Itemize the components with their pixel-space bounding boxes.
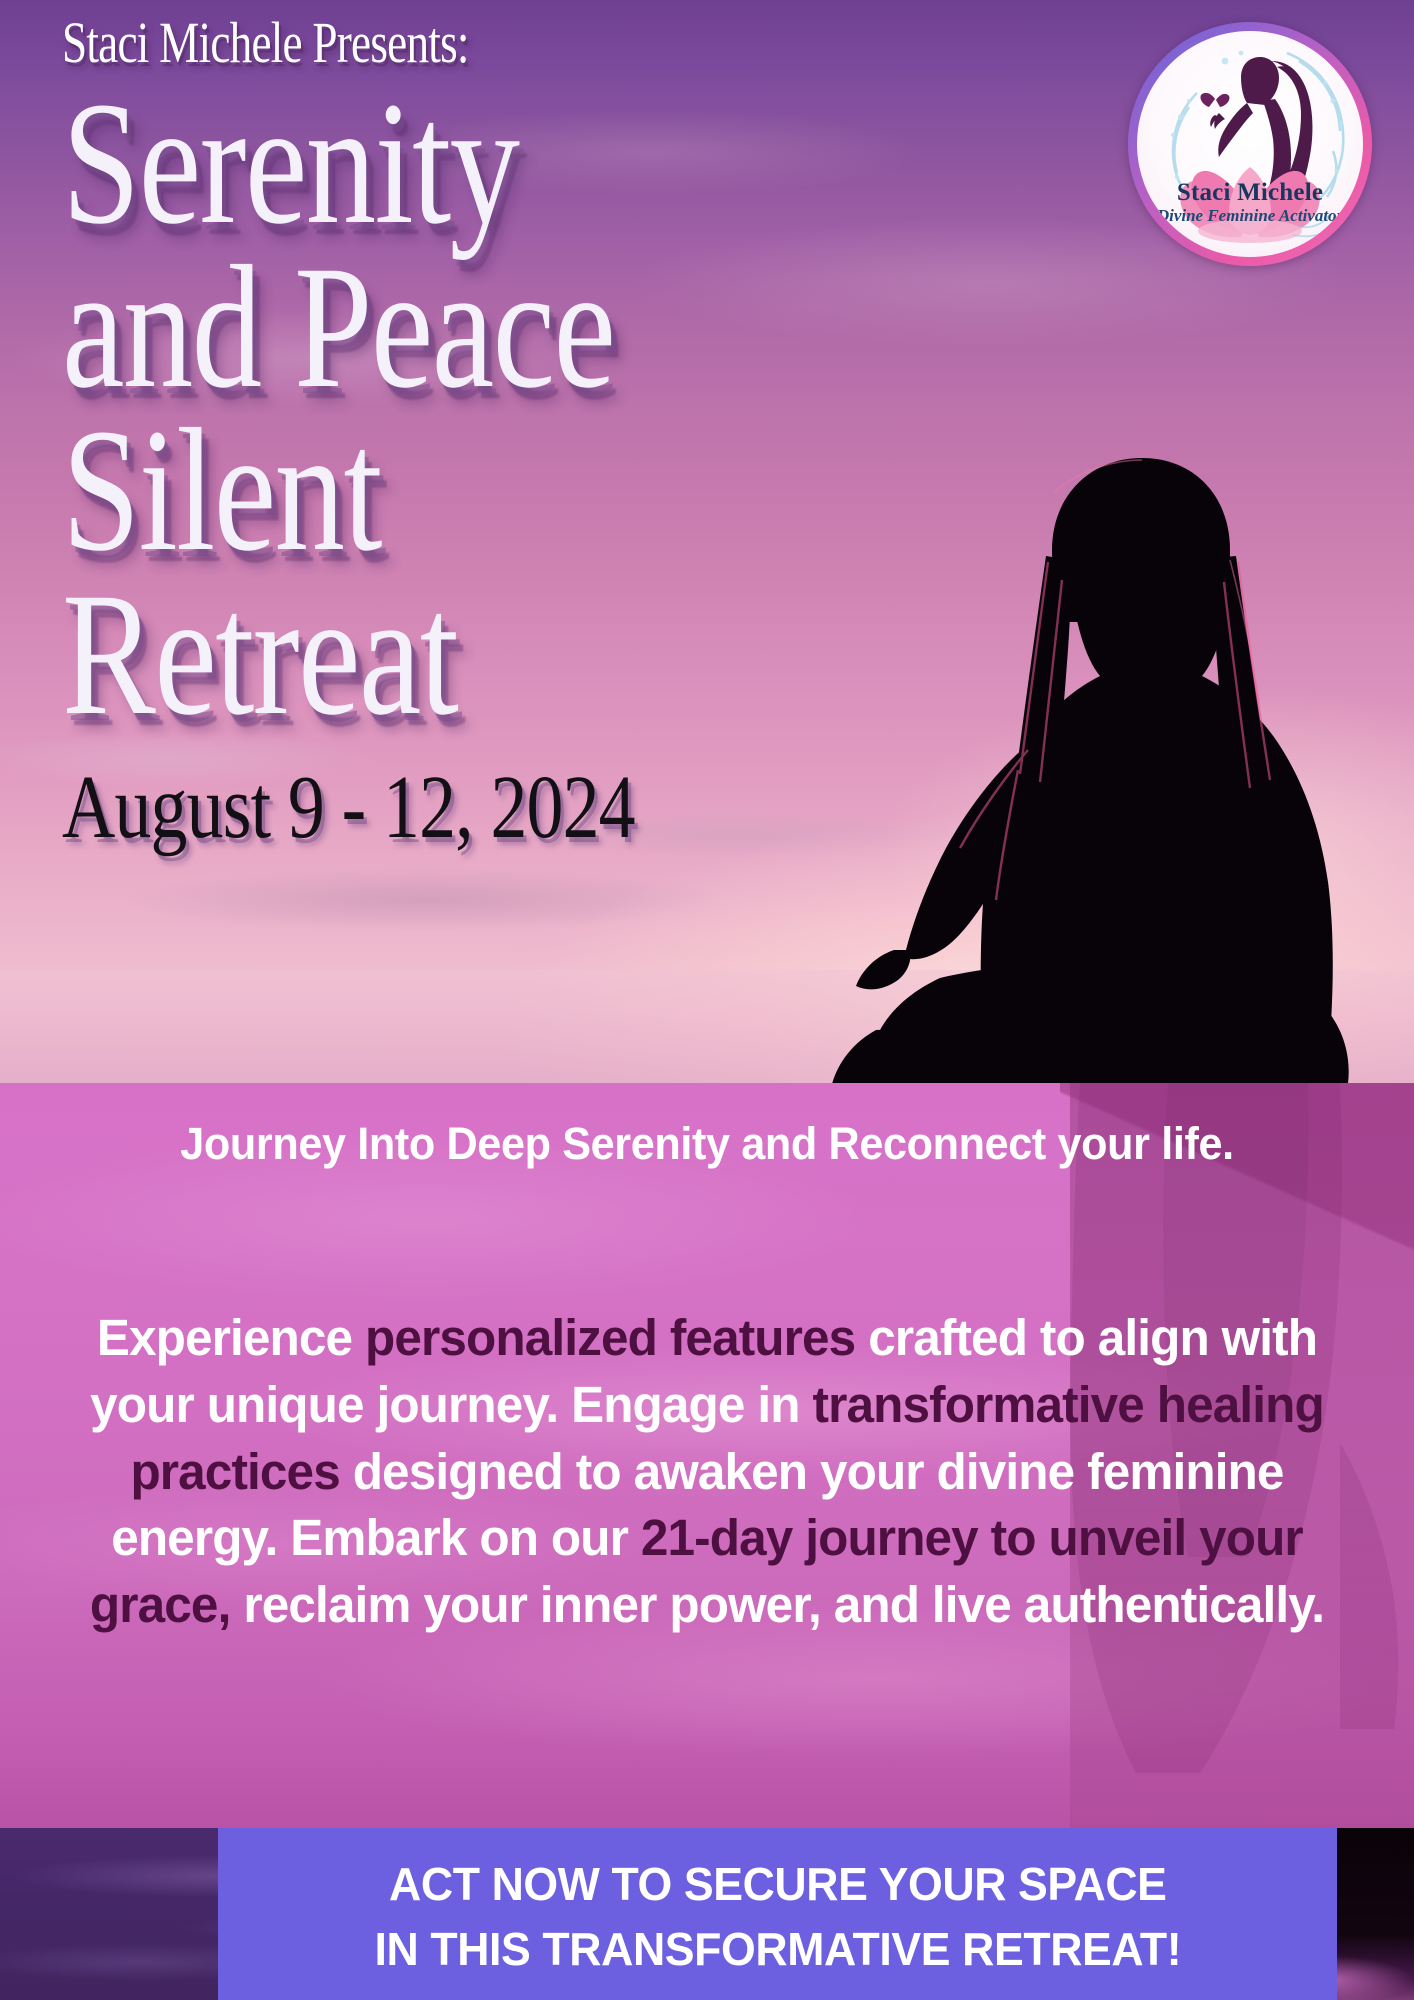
poster-canvas: Staci Michele Divine Feminine Activator … [0,0,1414,2000]
logo-brand-name: Staci Michele [1137,180,1363,205]
body-paragraph: Experience personalized features crafted… [66,1305,1348,1639]
title-line-2: and Peace [62,246,766,410]
logo-tagline: Divine Feminine Activator [1137,207,1363,224]
cta-line-2: IN THIS TRANSFORMATIVE RETREAT! [374,1917,1181,1982]
headline-block: Staci Michele Presents: Serenity and Pea… [62,14,942,853]
body-segment-1: personalized features [365,1309,855,1366]
body-segment-0: Experience [97,1309,365,1366]
title-line-1: Serenity [62,82,766,246]
body-segment-6: reclaim your inner power, and live authe… [230,1576,1324,1633]
cta-banner[interactable]: ACT NOW TO SECURE YOUR SPACE IN THIS TRA… [218,1828,1337,2000]
horizon-glow-band [0,970,1414,1084]
title-line-3: Silent [62,409,766,573]
cta-line-1: ACT NOW TO SECURE YOUR SPACE [389,1852,1167,1917]
logo-inner-disc: Staci Michele Divine Feminine Activator [1137,31,1363,257]
butterfly-icon [1200,93,1229,107]
staci-michele-logo[interactable]: Staci Michele Divine Feminine Activator [1128,22,1372,266]
title-line-4: Retreat [62,573,766,737]
subheadline: Journey Into Deep Serenity and Reconnect… [95,1117,1318,1172]
silhouette-shoulder-wedge [1060,1083,1414,1303]
retreat-date: August 9 - 12, 2024 [62,763,784,853]
presenter-line: Staci Michele Presents: [62,14,748,72]
